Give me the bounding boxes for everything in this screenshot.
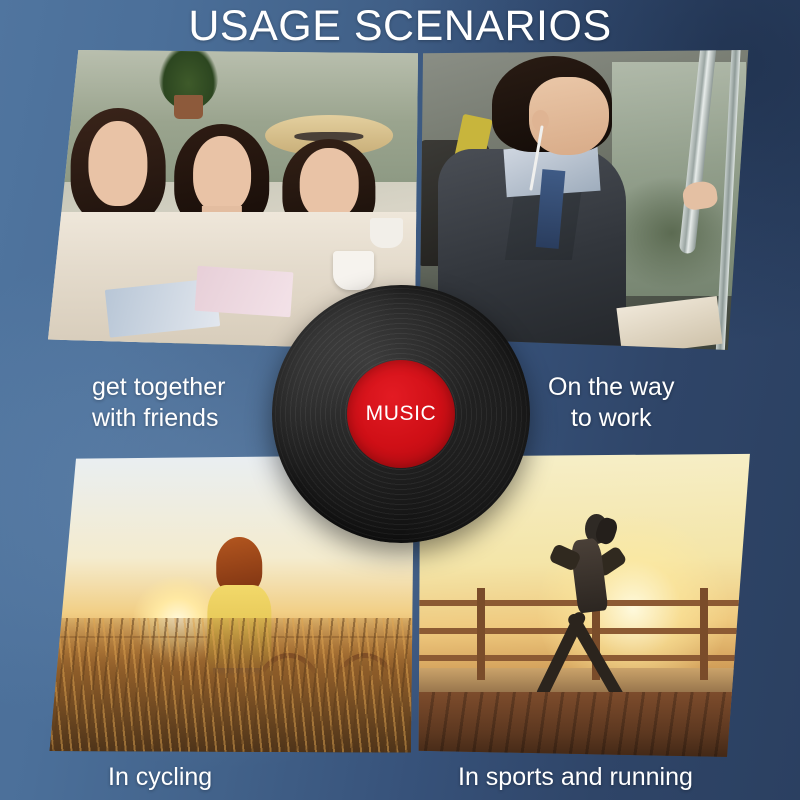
magazine-right: [195, 266, 294, 318]
open-book: [616, 296, 722, 350]
rail-post-left: [477, 588, 485, 680]
usage-scenarios-poster: USAGE SCENARIOS: [0, 0, 800, 800]
coffee-cup-second: [370, 218, 403, 248]
rail-post-right: [700, 588, 708, 680]
tall-grass-field: [44, 618, 416, 757]
face: [193, 136, 251, 213]
coffee-cup: [333, 251, 374, 290]
caption-friends: get together with friends: [92, 372, 225, 433]
record-label-text: MUSIC: [366, 402, 437, 426]
torso: [570, 538, 609, 614]
page-title: USAGE SCENARIOS: [0, 2, 800, 51]
caption-running: In sports and running: [458, 762, 693, 793]
caption-cycling: In cycling: [108, 762, 212, 793]
caption-commute: On the way to work: [548, 372, 674, 433]
face: [300, 148, 359, 220]
boardwalk-deck: [416, 692, 754, 760]
vinyl-record-icon: MUSIC: [272, 285, 530, 543]
record-center-label: MUSIC: [347, 360, 455, 468]
face: [89, 121, 148, 207]
